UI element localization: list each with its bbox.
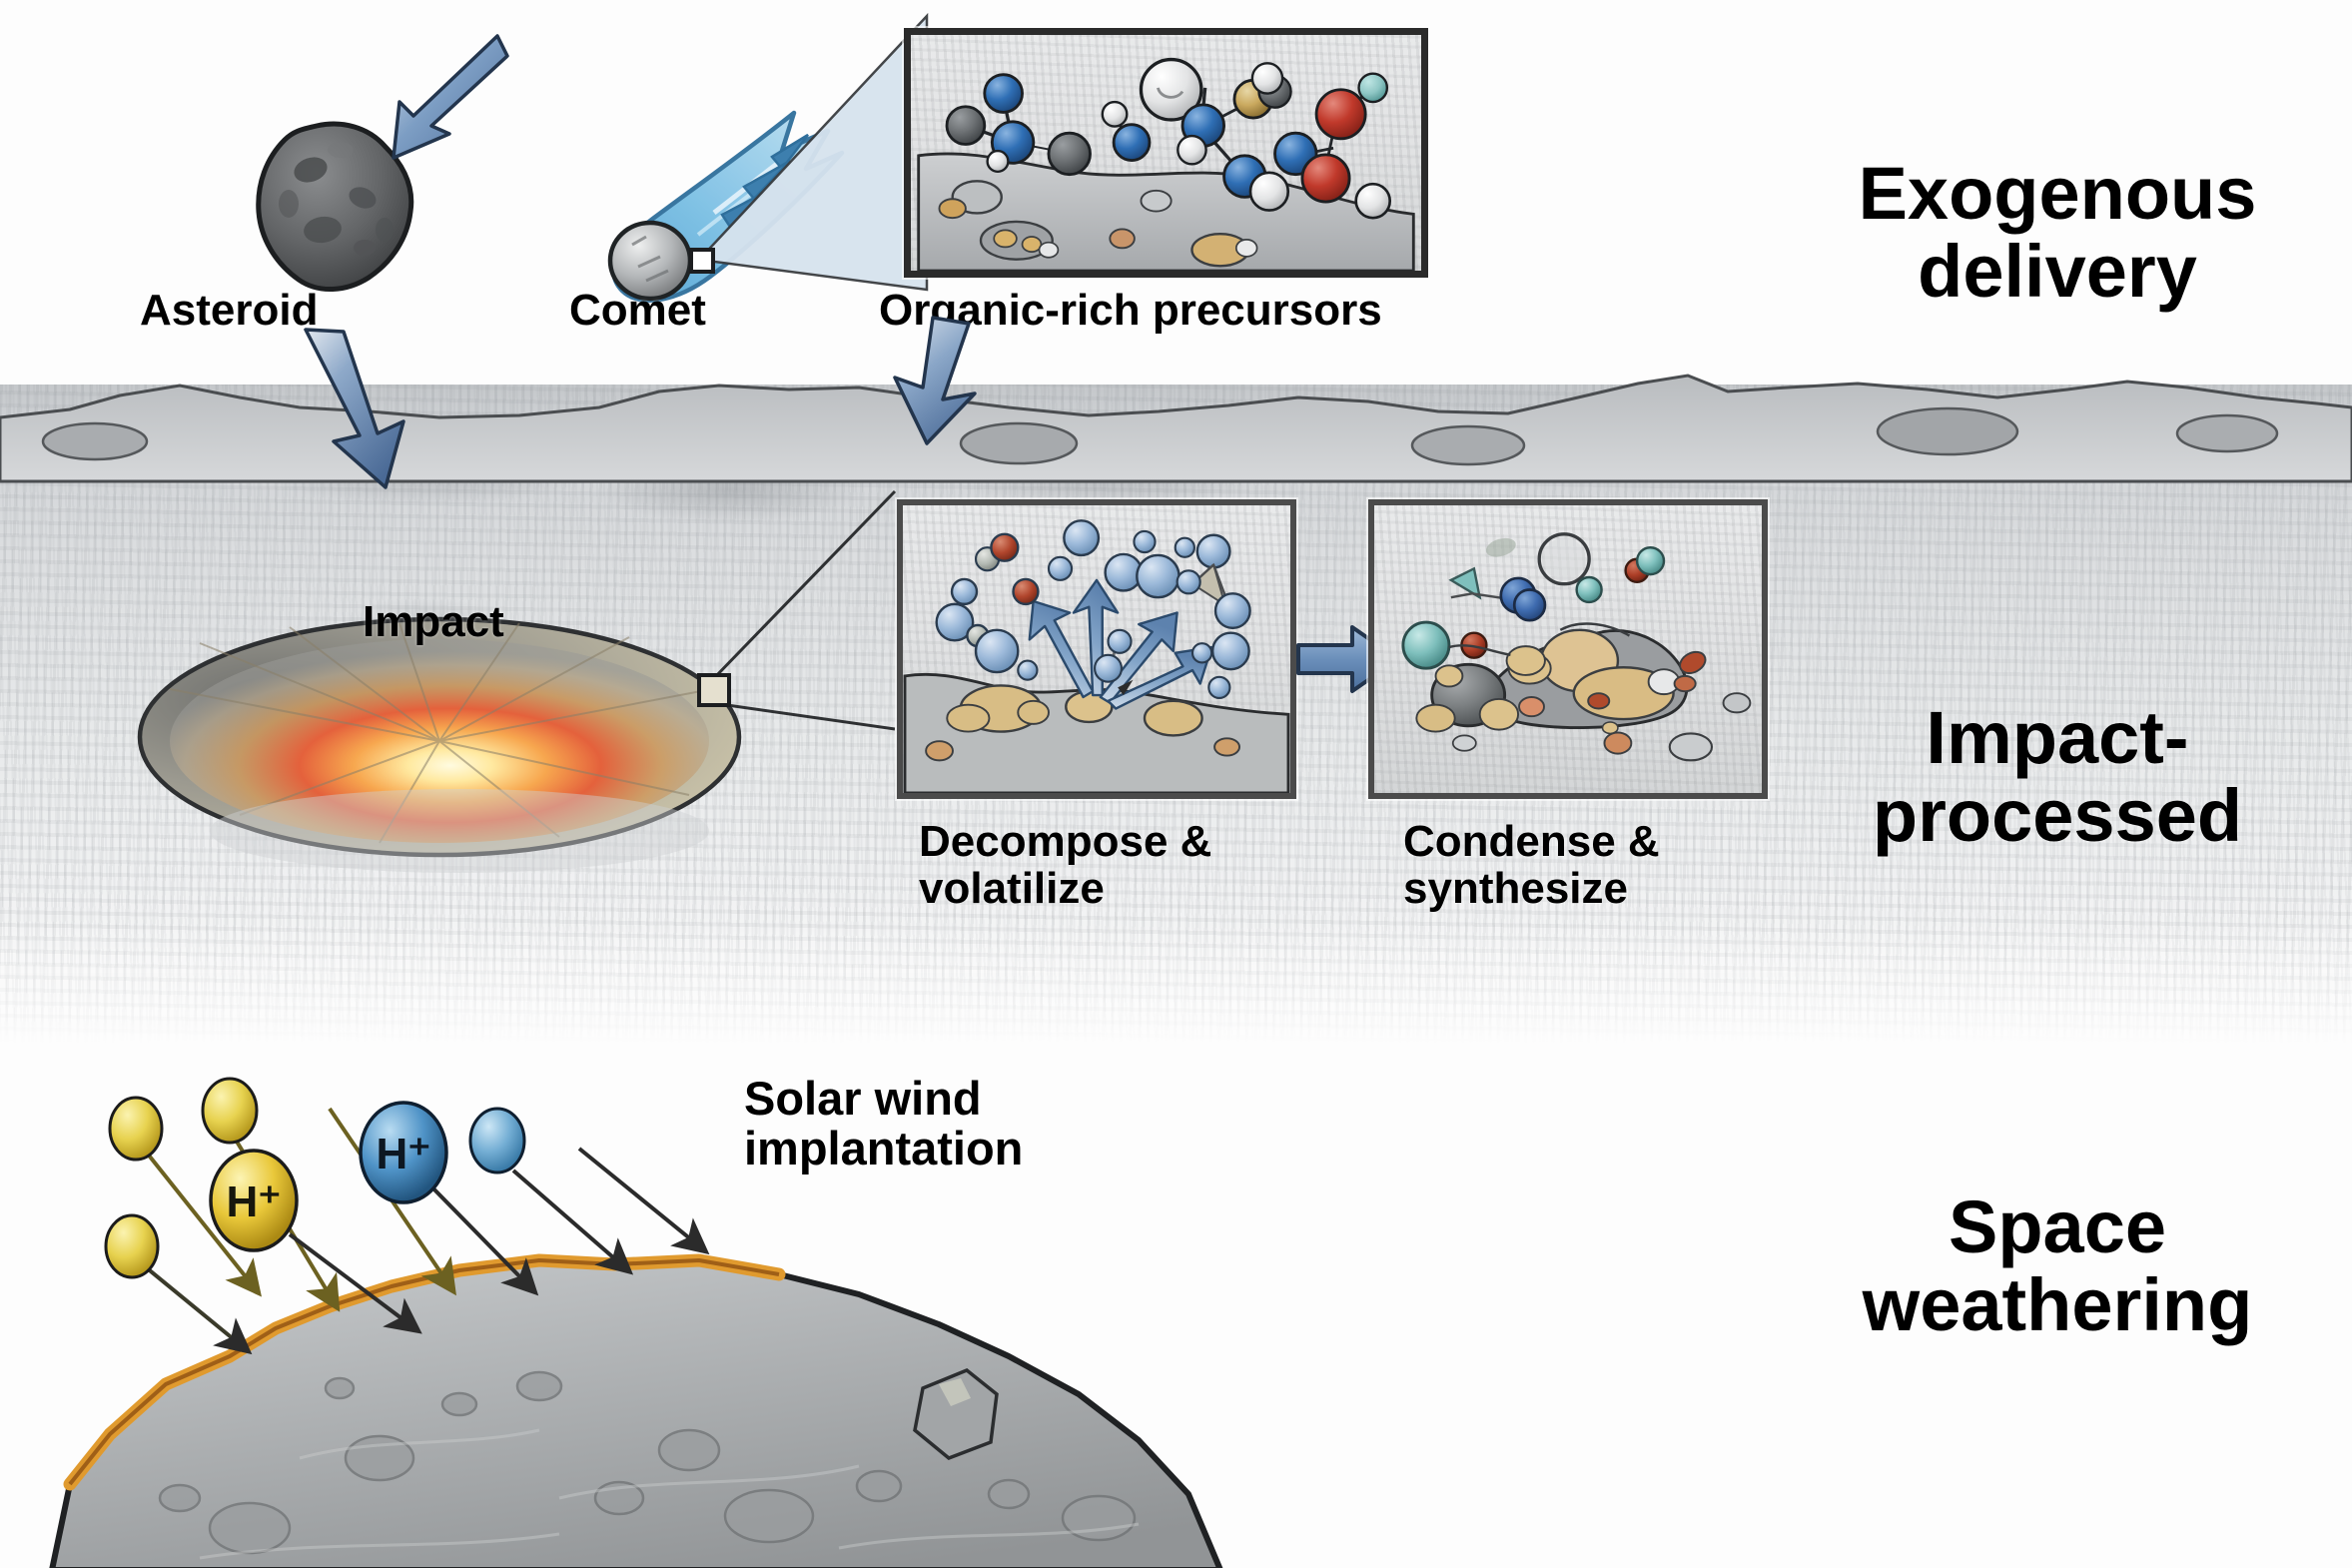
solar-wind-label: Solar wind implantation [744,1074,1023,1174]
category-label-impact-processed: Impact- processed [1788,699,2327,856]
organic-precursor-inset [904,28,1428,278]
decompose-callout-lines [699,479,899,739]
diagram-canvas: Asteroid Comet [0,0,2352,1568]
condense-synthesize-caption: Condense & synthesize [1403,819,1660,912]
comet-label: Comet [569,288,706,335]
decompose-volatilize-caption: Decompose & volatilize [919,819,1211,912]
molecule-scene [911,35,1421,271]
solar-wind-particles: H⁺ H⁺ [110,1049,809,1348]
hydrogen-ion-label-gold: H⁺ [227,1177,282,1226]
condense-synthesize-inset [1368,499,1768,799]
hydrogen-ion-label-blue: H⁺ [377,1130,431,1178]
category-label-space-weathering: Space weathering [1788,1188,2327,1345]
volatilization-scene [903,505,1290,793]
decompose-volatilize-inset [897,499,1296,799]
impact-label: Impact [363,599,504,646]
category-label-exogenous-delivery: Exogenous delivery [1788,155,2327,312]
precursor-callout-cone [699,10,929,300]
precursor-delivery-arrow [889,318,1019,447]
condensation-scene [1374,505,1762,793]
incoming-trajectory-arrow [370,30,509,165]
asteroid-label: Asteroid [140,288,318,335]
asteroid-impact-arrow [300,330,459,489]
